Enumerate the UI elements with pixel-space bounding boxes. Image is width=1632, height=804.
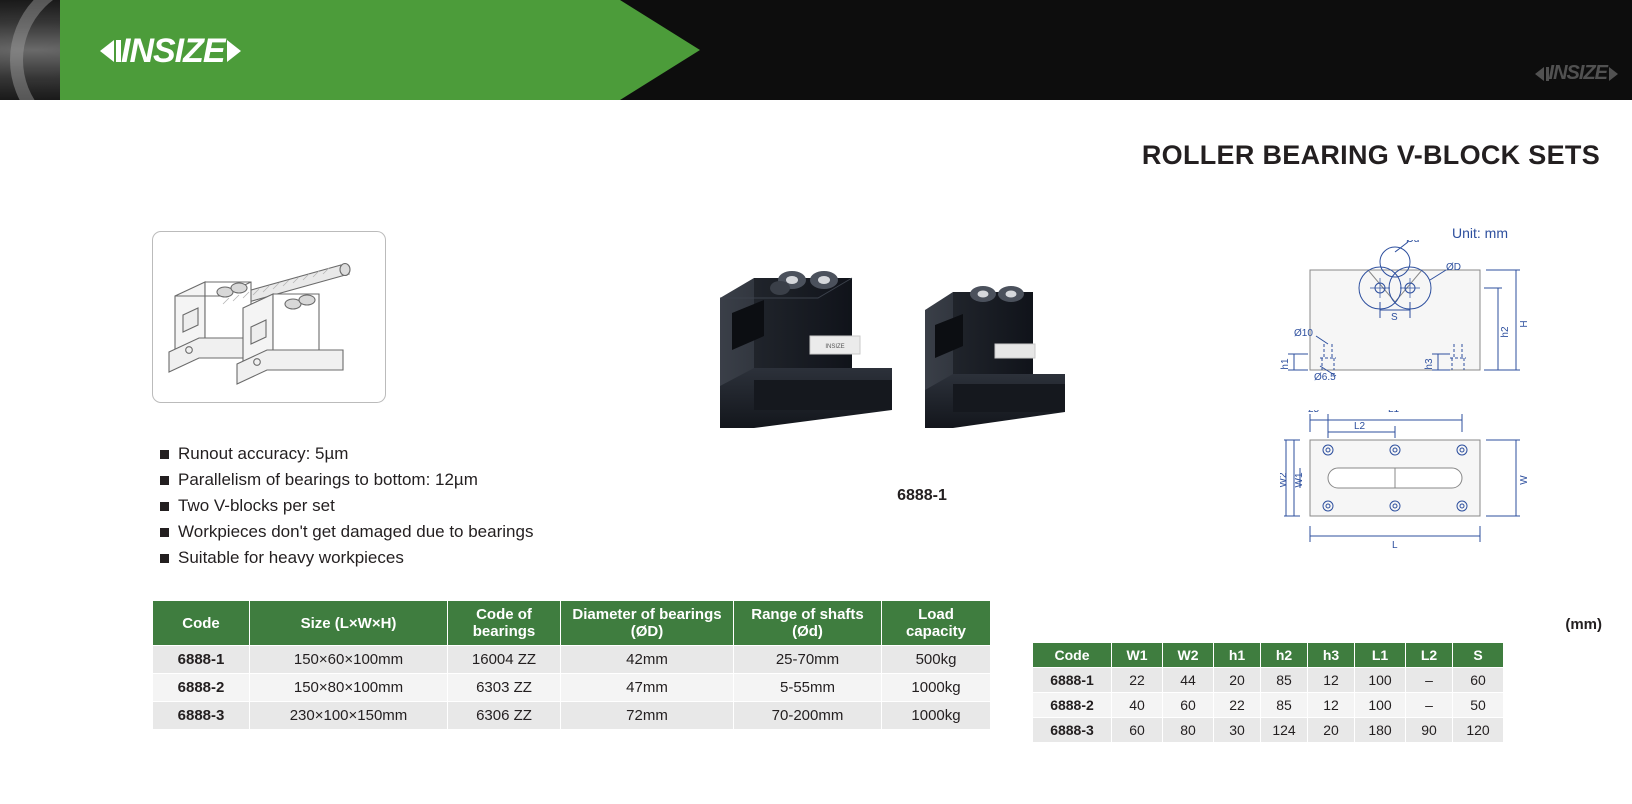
bullet-icon [160, 554, 169, 563]
watermark-text: INSIZE [1549, 62, 1607, 85]
watermark-right-arrow-icon [1609, 67, 1618, 81]
bullet-icon [160, 502, 169, 511]
cell-size: 230×100×150mm [250, 702, 448, 730]
specification-table: Code Size (L×W×H) Code of bearings Diame… [152, 600, 991, 730]
col-load-capacity: Load capacity [882, 601, 991, 646]
logo-text: INSIZE [121, 32, 225, 71]
cell-h2: 85 [1261, 668, 1308, 693]
cell-w2: 60 [1163, 693, 1214, 718]
photo-caption: 6888-1 [862, 487, 982, 505]
cell-h1: 30 [1214, 718, 1261, 743]
feature-item: Workpieces don't get damaged due to bear… [160, 521, 780, 542]
cell-h3: 20 [1308, 718, 1355, 743]
cell-code: 6888-1 [1033, 668, 1112, 693]
bullet-icon [160, 528, 169, 537]
svg-text:h1: h1 [1280, 358, 1291, 370]
cell-size: 150×80×100mm [250, 674, 448, 702]
svg-text:Ø6.5: Ø6.5 [1314, 372, 1336, 383]
cell-w1: 22 [1112, 668, 1163, 693]
col-w1: W1 [1112, 643, 1163, 668]
col-diameter-of-bearings: Diameter of bearings (ØD) [561, 601, 734, 646]
cell-l1: 100 [1355, 668, 1406, 693]
page-header: INSIZE INSIZE [0, 0, 1632, 100]
table-row: 6888-3 60 80 30 124 20 180 90 120 [1033, 718, 1504, 743]
svg-text:W1: W1 [1294, 472, 1305, 487]
col-code: Code [153, 601, 250, 646]
col-code: Code [1033, 643, 1112, 668]
cell-w1: 40 [1112, 693, 1163, 718]
cell-h3: 12 [1308, 693, 1355, 718]
technical-drawing-front-view: Ød ØD S H h2 h1 h3 Ø10 Ø6.5 [1280, 240, 1540, 405]
svg-text:L: L [1392, 540, 1398, 550]
svg-text:h3: h3 [1424, 358, 1435, 370]
page-title: ROLLER BEARING V-BLOCK SETS [1142, 140, 1600, 171]
cell-bearing-code: 6306 ZZ [448, 702, 561, 730]
dimension-table: Code W1 W2 h1 h2 h3 L1 L2 S 6888-1 22 44… [1032, 642, 1504, 743]
logo-right-arrow-icon [227, 40, 241, 62]
cell-code: 6888-3 [1033, 718, 1112, 743]
svg-text:L2: L2 [1354, 421, 1366, 432]
svg-text:ØD: ØD [1446, 262, 1461, 273]
feature-item: Parallelism of bearings to bottom: 12µm [160, 469, 780, 490]
table-row: 6888-2 40 60 22 85 12 100 – 50 [1033, 693, 1504, 718]
bullet-icon [160, 450, 169, 459]
insize-logo: INSIZE [100, 30, 241, 72]
cell-shaft-range: 70-200mm [734, 702, 882, 730]
watermark-left-arrow-icon [1535, 67, 1544, 81]
product-line-drawing-box [152, 231, 386, 403]
cell-load-capacity: 1000kg [882, 674, 991, 702]
feature-text: Parallelism of bearings to bottom: 12µm [178, 469, 478, 490]
feature-text: Workpieces don't get damaged due to bear… [178, 521, 533, 542]
svg-text:S: S [1391, 312, 1398, 323]
svg-text:W2: W2 [1280, 472, 1289, 487]
col-range-of-shafts: Range of shafts (Ød) [734, 601, 882, 646]
cell-bearing-code: 6303 ZZ [448, 674, 561, 702]
cell-load-capacity: 500kg [882, 646, 991, 674]
table-row: 6888-1 150×60×100mm 16004 ZZ 42mm 25-70m… [153, 646, 991, 674]
cell-shaft-range: 25-70mm [734, 646, 882, 674]
svg-text:L1: L1 [1388, 410, 1400, 415]
cell-shaft-range: 5-55mm [734, 674, 882, 702]
cell-w2: 44 [1163, 668, 1214, 693]
bullet-icon [160, 476, 169, 485]
cell-w2: 80 [1163, 718, 1214, 743]
svg-text:INSIZE: INSIZE [825, 344, 844, 350]
svg-text:H: H [1519, 320, 1530, 327]
cell-h2: 124 [1261, 718, 1308, 743]
svg-text:Ød: Ød [1406, 240, 1419, 245]
cell-bearing-code: 16004 ZZ [448, 646, 561, 674]
feature-text: Runout accuracy: 5µm [178, 443, 348, 464]
v-block-line-drawing [153, 232, 383, 400]
col-s: S [1453, 643, 1504, 668]
table-header-row: Code Size (L×W×H) Code of bearings Diame… [153, 601, 991, 646]
table-header-row: Code W1 W2 h1 h2 h3 L1 L2 S [1033, 643, 1504, 668]
feature-item: Two V-blocks per set [160, 495, 780, 516]
svg-text:W: W [1519, 475, 1530, 485]
cell-l1: 180 [1355, 718, 1406, 743]
cell-h1: 20 [1214, 668, 1261, 693]
svg-text:h2: h2 [1500, 326, 1511, 338]
svg-text:Ø10: Ø10 [1294, 328, 1313, 339]
cell-code: 6888-3 [153, 702, 250, 730]
col-code-of-bearings: Code of bearings [448, 601, 561, 646]
cell-code: 6888-1 [153, 646, 250, 674]
feature-item: Runout accuracy: 5µm [160, 443, 780, 464]
mm-unit-label: (mm) [1565, 616, 1602, 633]
technical-drawing-top-view: 25 L1 L2 W2 W1 W L [1280, 410, 1540, 555]
table-row: 6888-2 150×80×100mm 6303 ZZ 47mm 5-55mm … [153, 674, 991, 702]
cell-load-capacity: 1000kg [882, 702, 991, 730]
svg-text:25: 25 [1308, 410, 1320, 415]
cell-size: 150×60×100mm [250, 646, 448, 674]
feature-list: Runout accuracy: 5µm Parallelism of bear… [160, 443, 780, 573]
col-h1: h1 [1214, 643, 1261, 668]
cell-l2: – [1406, 668, 1453, 693]
cell-s: 50 [1453, 693, 1504, 718]
cell-bearing-diameter: 42mm [561, 646, 734, 674]
unit-label: Unit: mm [1452, 225, 1508, 241]
cell-w1: 60 [1112, 718, 1163, 743]
cell-bearing-diameter: 47mm [561, 674, 734, 702]
table-row: 6888-3 230×100×150mm 6306 ZZ 72mm 70-200… [153, 702, 991, 730]
cell-h1: 22 [1214, 693, 1261, 718]
col-h2: h2 [1261, 643, 1308, 668]
cell-bearing-diameter: 72mm [561, 702, 734, 730]
feature-item: Suitable for heavy workpieces [160, 547, 780, 568]
table-row: 6888-1 22 44 20 85 12 100 – 60 [1033, 668, 1504, 693]
logo-left-arrow-icon [100, 40, 114, 62]
feature-text: Suitable for heavy workpieces [178, 547, 404, 568]
col-h3: h3 [1308, 643, 1355, 668]
product-photo: INSIZE [720, 258, 1140, 458]
cell-code: 6888-2 [153, 674, 250, 702]
cell-h3: 12 [1308, 668, 1355, 693]
cell-l2: – [1406, 693, 1453, 718]
cell-l2: 90 [1406, 718, 1453, 743]
cell-code: 6888-2 [1033, 693, 1112, 718]
cell-s: 60 [1453, 668, 1504, 693]
col-size: Size (L×W×H) [250, 601, 448, 646]
feature-text: Two V-blocks per set [178, 495, 335, 516]
header-watermark-logo: INSIZE [1535, 62, 1618, 85]
cell-h2: 85 [1261, 693, 1308, 718]
cell-s: 120 [1453, 718, 1504, 743]
col-l2: L2 [1406, 643, 1453, 668]
col-l1: L1 [1355, 643, 1406, 668]
cell-l1: 100 [1355, 693, 1406, 718]
col-w2: W2 [1163, 643, 1214, 668]
